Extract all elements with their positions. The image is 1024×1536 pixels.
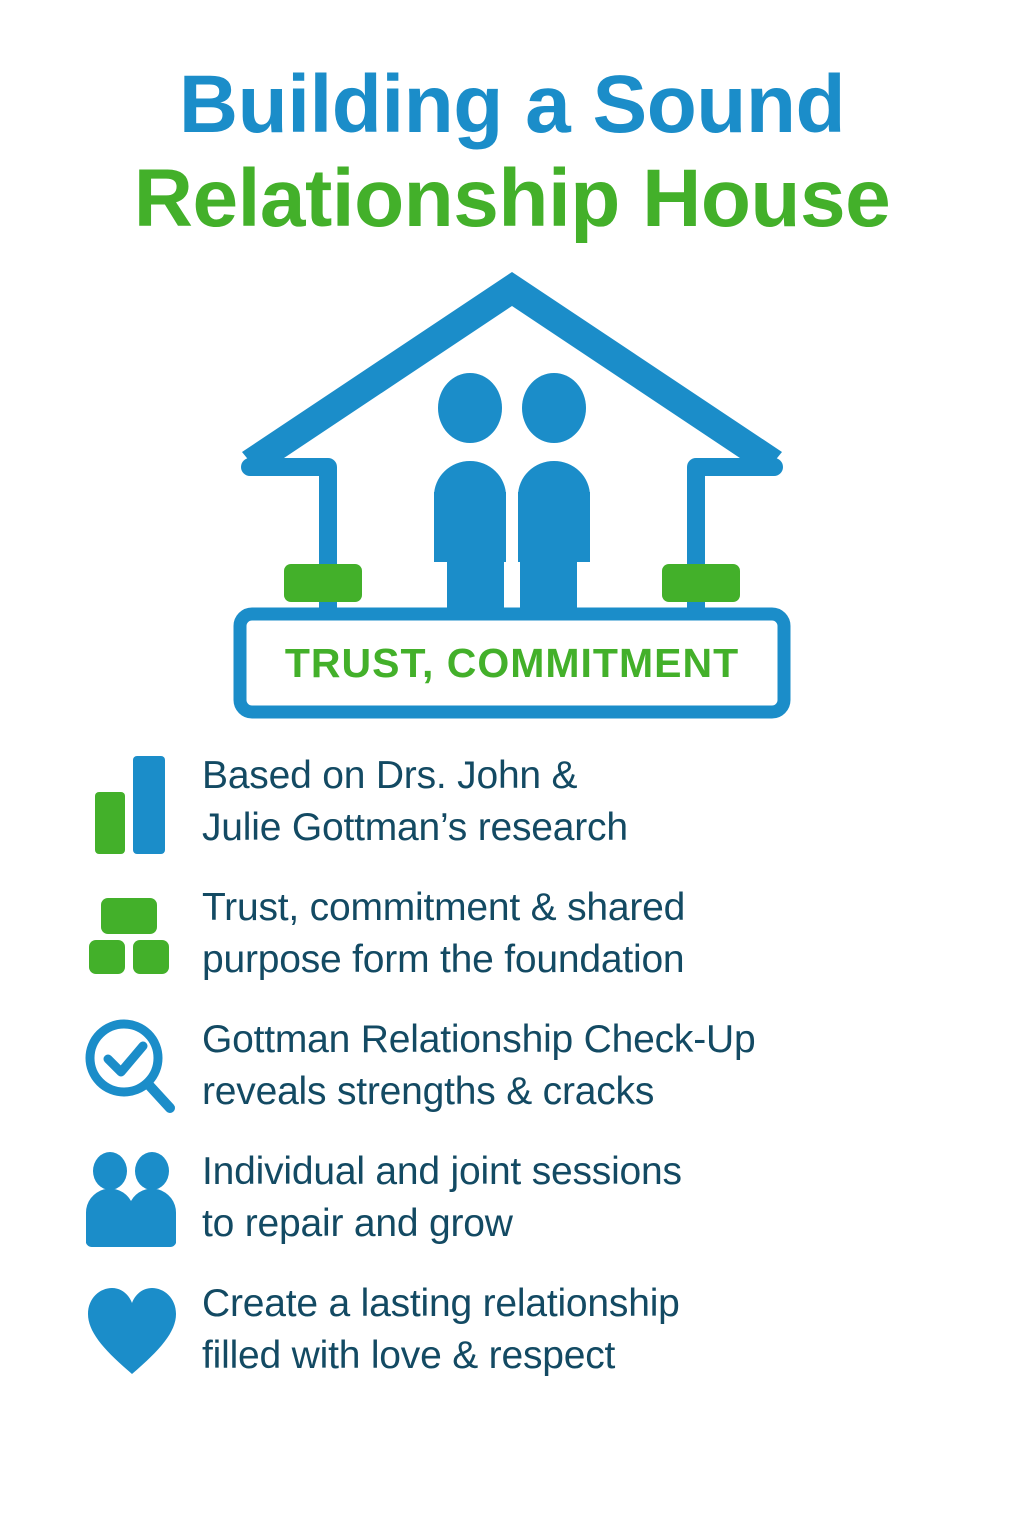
blocks-icon bbox=[78, 880, 186, 992]
list-item-text: Create a lasting relationship filled wit… bbox=[186, 1276, 680, 1382]
list-item-text: Gottman Relationship Check-Up reveals st… bbox=[186, 1012, 755, 1118]
two-people-icon bbox=[78, 1144, 186, 1256]
bar-chart-icon bbox=[78, 748, 186, 860]
bullet-list: Based on Drs. John & Julie Gottman’s res… bbox=[78, 748, 958, 1408]
title-line-1: Building a Sound bbox=[0, 58, 1024, 152]
list-item-line-2: filled with love & respect bbox=[202, 1330, 680, 1382]
page-title: Building a Sound Relationship House bbox=[0, 58, 1024, 246]
list-item: Trust, commitment & shared purpose form … bbox=[78, 880, 958, 992]
list-item-line-1: Based on Drs. John & bbox=[202, 750, 628, 802]
list-item-line-2: purpose form the foundation bbox=[202, 934, 685, 986]
list-item-line-1: Trust, commitment & shared bbox=[202, 882, 685, 934]
list-item: Gottman Relationship Check-Up reveals st… bbox=[78, 1012, 958, 1124]
title-line-2: Relationship House bbox=[0, 152, 1024, 246]
list-item: Create a lasting relationship filled wit… bbox=[78, 1276, 958, 1388]
foundation-label: TRUST, COMMITMENT bbox=[240, 614, 784, 712]
list-item-line-1: Individual and joint sessions bbox=[202, 1146, 682, 1198]
list-item-line-1: Create a lasting relationship bbox=[202, 1278, 680, 1330]
infographic-page: Building a Sound Relationship House bbox=[0, 0, 1024, 1536]
couple-figures bbox=[434, 373, 590, 623]
green-block-right bbox=[662, 564, 740, 602]
list-item-line-2: reveals strengths & cracks bbox=[202, 1066, 755, 1118]
list-item-text: Based on Drs. John & Julie Gottman’s res… bbox=[186, 748, 628, 854]
heart-icon bbox=[78, 1276, 186, 1388]
list-item-line-1: Gottman Relationship Check-Up bbox=[202, 1014, 755, 1066]
house-illustration: TRUST, COMMITMENT bbox=[232, 262, 792, 722]
list-item-text: Trust, commitment & shared purpose form … bbox=[186, 880, 685, 986]
list-item: Individual and joint sessions to repair … bbox=[78, 1144, 958, 1256]
green-block-left bbox=[284, 564, 362, 602]
list-item: Based on Drs. John & Julie Gottman’s res… bbox=[78, 748, 958, 860]
list-item-line-2: to repair and grow bbox=[202, 1198, 682, 1250]
house-roof bbox=[242, 272, 782, 474]
list-item-line-2: Julie Gottman’s research bbox=[202, 802, 628, 854]
list-item-text: Individual and joint sessions to repair … bbox=[186, 1144, 682, 1250]
magnifier-check-icon bbox=[78, 1012, 186, 1124]
